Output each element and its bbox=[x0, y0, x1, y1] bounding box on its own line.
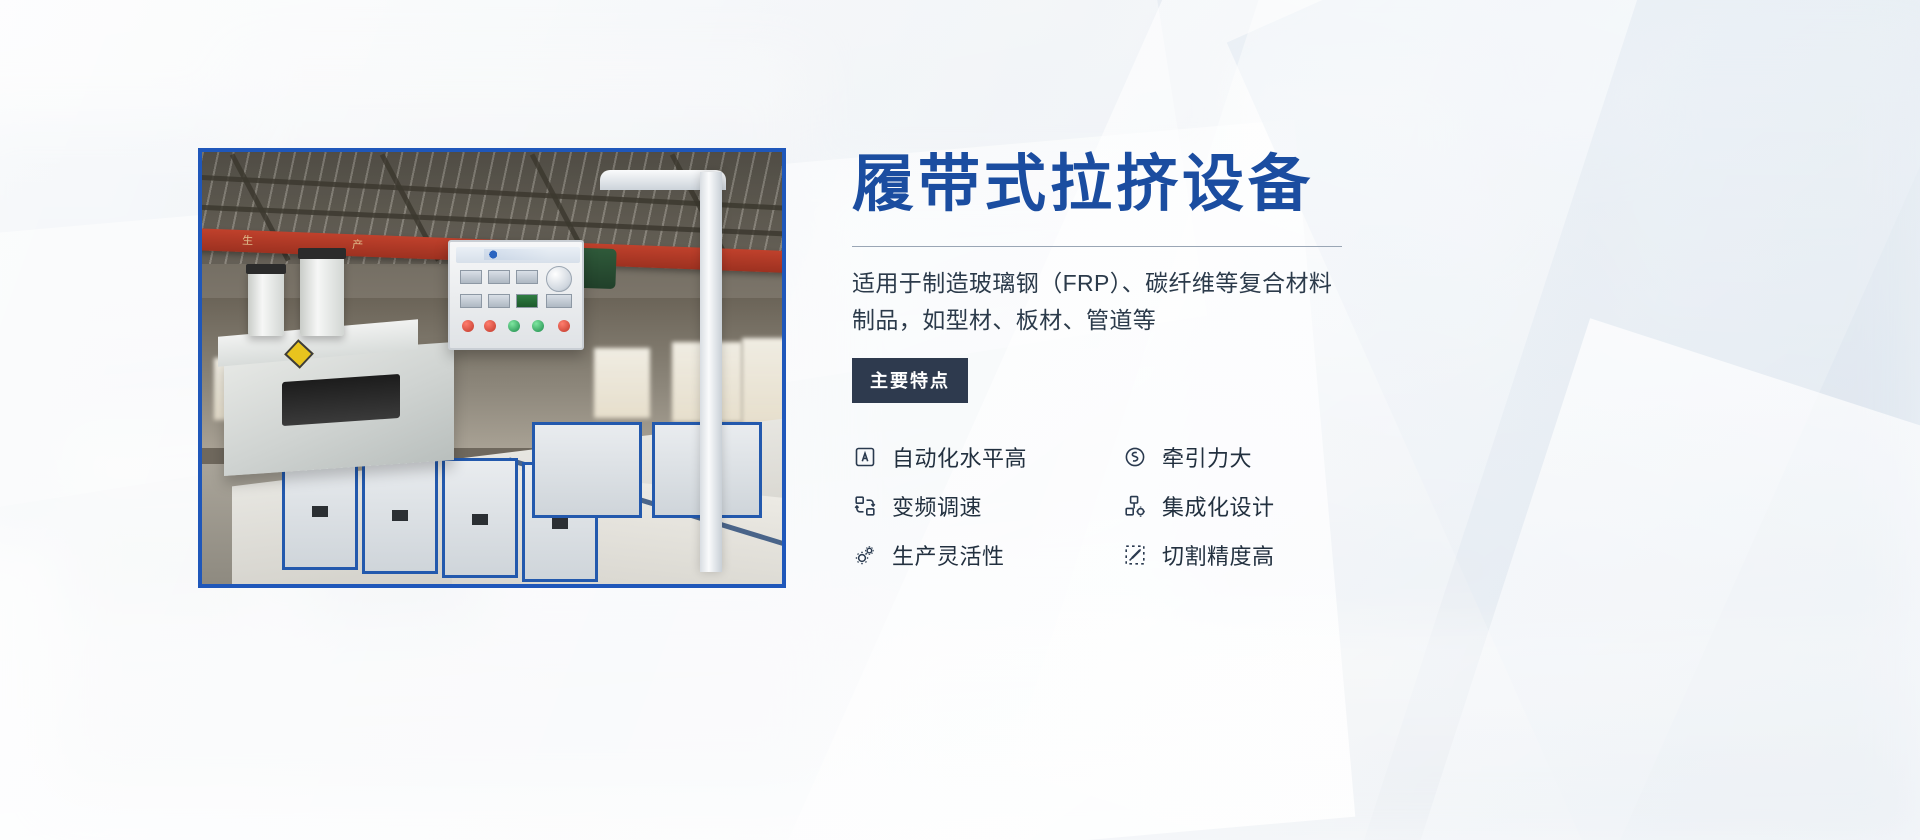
feature-item-frequency[interactable]: 变频调速 bbox=[852, 490, 1122, 522]
product-description: 适用于制造玻璃钢（FRP）、碳纤维等复合材料制品，如型材、板材、管道等 bbox=[852, 265, 1344, 340]
product-photo: 生 产 厂 家 bbox=[202, 152, 782, 584]
feature-item-traction[interactable]: 牵引力大 bbox=[1122, 441, 1352, 473]
automation-square-a-icon bbox=[852, 444, 878, 470]
cut-precision-pencil-icon bbox=[1122, 542, 1148, 568]
feature-item-automation[interactable]: 自动化水平高 bbox=[852, 441, 1122, 473]
product-banner: 生 产 厂 家 bbox=[0, 0, 1920, 840]
feature-list: 自动化水平高 牵引力大 bbox=[852, 433, 1352, 580]
gantry-post bbox=[700, 172, 722, 572]
banner-content: 履带式拉挤设备 适用于制造玻璃钢（FRP）、碳纤维等复合材料制品，如型材、板材、… bbox=[852, 150, 1352, 580]
control-panel bbox=[448, 240, 584, 350]
feature-item-cut-precision[interactable]: 切割精度高 bbox=[1122, 539, 1352, 571]
page-title: 履带式拉挤设备 bbox=[852, 150, 1352, 218]
feature-label: 变频调速 bbox=[892, 490, 982, 522]
product-photo-frame: 生 产 厂 家 bbox=[198, 148, 786, 588]
feature-label: 牵引力大 bbox=[1162, 441, 1252, 473]
feature-label: 自动化水平高 bbox=[892, 441, 1027, 473]
feature-label: 切割精度高 bbox=[1162, 539, 1275, 571]
feature-label: 集成化设计 bbox=[1162, 490, 1275, 522]
status-badge: 主要特点 bbox=[852, 358, 968, 403]
feature-item-flexibility[interactable]: 生产灵活性 bbox=[852, 539, 1122, 571]
gears-flexibility-icon bbox=[852, 542, 878, 568]
feature-item-integrated[interactable]: 集成化设计 bbox=[1122, 490, 1352, 522]
feature-label: 生产灵活性 bbox=[892, 539, 1005, 571]
traction-waves-circle-icon bbox=[1122, 444, 1148, 470]
machine-die-opening bbox=[282, 374, 400, 426]
integrated-design-nodes-icon bbox=[1122, 493, 1148, 519]
title-divider bbox=[852, 246, 1342, 247]
frequency-speed-icon bbox=[852, 493, 878, 519]
